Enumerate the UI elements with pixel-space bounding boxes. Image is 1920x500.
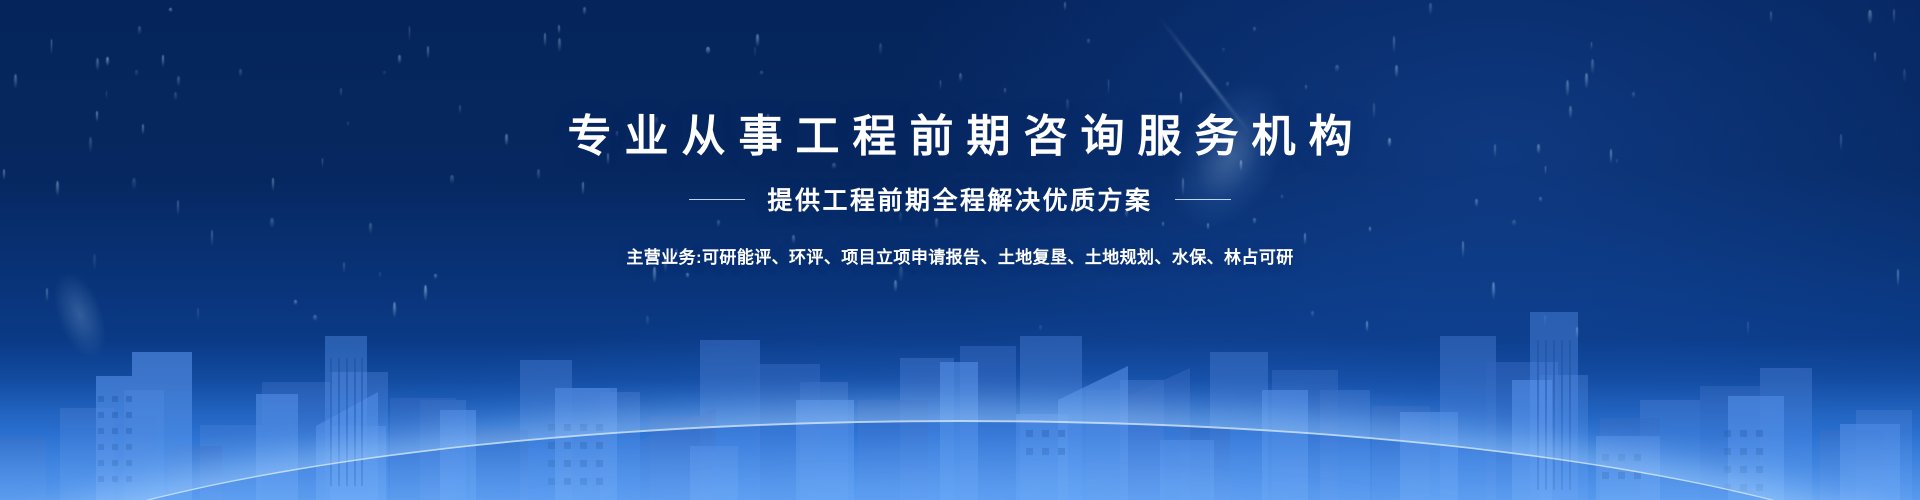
- banner-services-line: 主营业务:可研能评、环评、项目立项申请报告、土地复垦、土地规划、水保、林占可研: [626, 243, 1293, 268]
- banner-subtitle-row: 提供工程前期全程解决优质方案: [689, 181, 1230, 217]
- hero-banner: 专业从事工程前期咨询服务机构 提供工程前期全程解决优质方案 主营业务:可研能评、…: [0, 0, 1920, 500]
- banner-content: 专业从事工程前期咨询服务机构 提供工程前期全程解决优质方案 主营业务:可研能评、…: [0, 0, 1920, 500]
- banner-headline: 专业从事工程前期咨询服务机构: [555, 112, 1366, 161]
- right-rule-icon: [1175, 199, 1231, 200]
- banner-subtitle: 提供工程前期全程解决优质方案: [767, 181, 1152, 217]
- left-rule-icon: [689, 199, 745, 200]
